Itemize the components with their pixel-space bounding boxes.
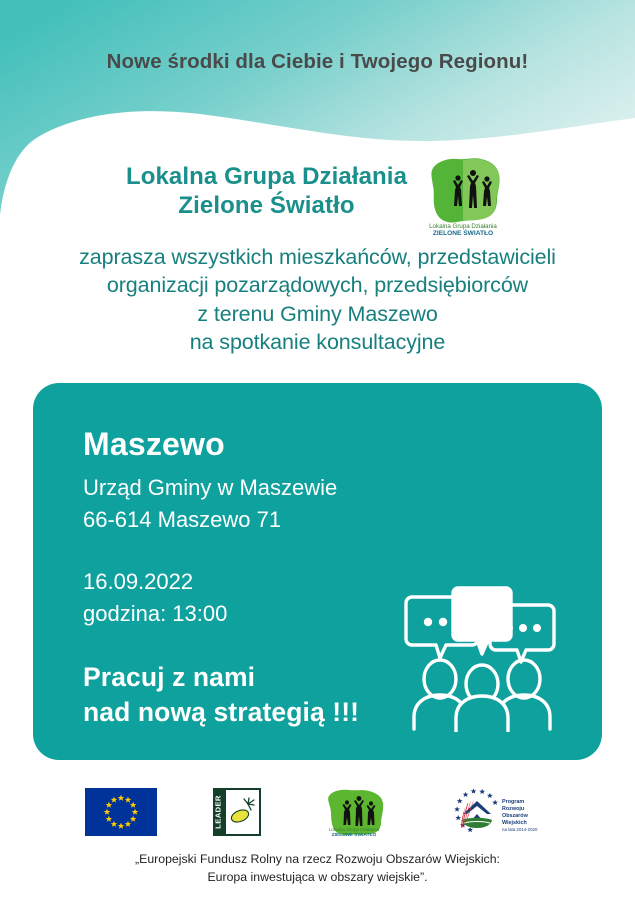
invitation-line-3: z terenu Gminy Maszewo — [0, 300, 635, 328]
event-time: godzina: 13:00 — [83, 598, 359, 630]
lgd-small-caption-line1: Lokalna Grupa Działania — [328, 827, 379, 832]
lgd-zielone-swiatlo-logo: Lokalna Grupa Działania ZIELONE ŚWIATŁO — [417, 154, 509, 238]
event-details-card: Maszewo Urząd Gminy w Maszewie 66-614 Ma… — [33, 383, 602, 760]
organization-block: Lokalna Grupa Działania Zielone Światło — [0, 160, 635, 238]
poster-root: Nowe środki dla Ciebie i Twojego Regionu… — [0, 0, 635, 898]
leader-logo: LEADER — [213, 788, 261, 836]
event-venue-address: Urząd Gminy w Maszewie 66-614 Maszewo 71 — [83, 472, 359, 536]
person-center — [456, 665, 508, 732]
footer-disclaimer-line2: Europa inwestująca w obszary wiejskie”. — [0, 868, 635, 886]
eu-flag-logo — [85, 788, 157, 836]
prow-2014-2020-logo: Program Rozwoju Obszarów Wiejskich na la… — [447, 787, 551, 837]
prow-text-line4: Wiejskich — [502, 820, 527, 826]
page-title: Nowe środki dla Ciebie i Twojego Regionu… — [0, 50, 635, 74]
prow-text-line3: Obszarów — [502, 813, 529, 819]
event-venue: Urząd Gminy w Maszewie — [83, 472, 359, 504]
organization-name-line2: Zielone Światło — [126, 191, 407, 220]
invitation-line-2: organizacji pozarządowych, przedsiębiorc… — [0, 271, 635, 299]
prow-text-line1: Program — [502, 799, 524, 805]
organization-name-line1: Lokalna Grupa Działania — [126, 162, 407, 191]
invitation-line-4: na spotkanie konsultacyjne — [0, 328, 635, 356]
leader-wordmark: LEADER — [213, 795, 222, 829]
people-speech-bubbles-icon — [402, 582, 562, 732]
prow-text-line2: Rozwoju — [502, 806, 524, 812]
footer-disclaimer-line1: „Europejski Fundusz Rolny na rzecz Rozwo… — [0, 850, 635, 868]
logo-caption-line1: Lokalna Grupa Działania — [429, 223, 497, 230]
logo-caption-line2: ZIELONE ŚWIATŁO — [433, 228, 493, 237]
invitation-line-1: zaprasza wszystkich mieszkańców, przedst… — [0, 243, 635, 271]
event-datetime: 16.09.2022 godzina: 13:00 — [83, 566, 359, 630]
event-call-to-action: Pracuj z nami nad nową strategią !!! — [83, 660, 359, 730]
cta-line-1: Pracuj z nami — [83, 660, 359, 695]
organization-name: Lokalna Grupa Działania Zielone Światło — [126, 160, 407, 221]
event-details-text: Maszewo Urząd Gminy w Maszewie 66-614 Ma… — [83, 427, 359, 730]
footer-disclaimer: „Europejski Fundusz Rolny na rzecz Rozwo… — [0, 850, 635, 887]
lgd-zielone-swiatlo-logo-small: Lokalna Grupa Działania ZIELONE ŚWIATŁO — [317, 787, 391, 837]
event-address: 66-614 Maszewo 71 — [83, 504, 359, 536]
event-date: 16.09.2022 — [83, 566, 359, 598]
cta-line-2: nad nową strategią !!! — [83, 695, 359, 730]
event-city: Maszewo — [83, 427, 359, 462]
prow-text-line5: na lata 2014-2020 — [502, 827, 538, 832]
footer-logo-strip: LEADER Lokalna Grupa Działania ZIELONE Ś… — [0, 783, 635, 841]
invitation-text: zaprasza wszystkich mieszkańców, przedst… — [0, 243, 635, 357]
